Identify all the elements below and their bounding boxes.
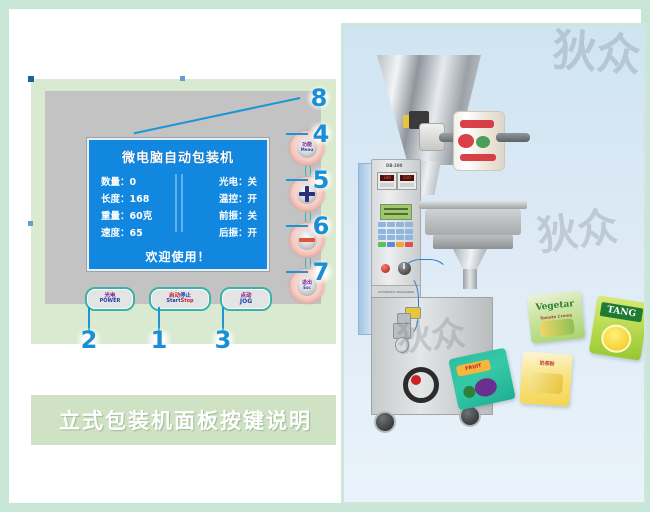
leader-line-esc	[286, 271, 308, 273]
lcd-line-photoeye: 光电：关	[219, 174, 257, 188]
lcd-right-column: 光电：关 温控：开 前振：关 后振：开	[219, 174, 257, 239]
leader-line-minus	[286, 225, 308, 227]
lcd-line-front-vib: 前振：关	[219, 208, 257, 222]
power-button-label-en: POWER	[100, 299, 121, 305]
lcd-title: 微电脑自动包装机	[89, 147, 267, 166]
callout-2: 2	[76, 327, 102, 353]
lcd-line-weight: 重量：60克	[101, 208, 152, 222]
callout-3: 3	[210, 327, 236, 353]
lcd-line-speed: 速度：65	[101, 225, 152, 239]
lcd-divider	[176, 174, 183, 232]
page-frame: 微电脑自动包装机 数量：0 长度：168 重量：60克 速度：65 光电：关 温…	[0, 0, 650, 512]
caption-text: 立式包装机面板按键说明	[59, 405, 312, 435]
callout-7: 7	[308, 259, 334, 285]
lcd-line-temp: 温控：开	[219, 191, 257, 205]
photo-border	[341, 23, 647, 505]
callout-6: 6	[308, 213, 334, 239]
leader-line-menu	[286, 133, 308, 135]
callout-8: 8	[306, 85, 332, 111]
selection-handle-top-left[interactable]	[28, 76, 34, 82]
selection-handle-bottom-left[interactable]	[28, 221, 33, 226]
lcd-welcome-message: 欢迎使用！	[89, 248, 267, 265]
callout-4: 4	[308, 121, 334, 147]
machine-photo: 狄众 DB-280 188 210	[341, 23, 647, 505]
lcd-line-rear-vib: 后振：开	[219, 225, 257, 239]
jog-button-label-en: JOG	[240, 299, 252, 306]
callout-1: 1	[146, 327, 172, 353]
selection-handle-top-middle[interactable]	[180, 76, 185, 81]
lcd-display: 微电脑自动包装机 数量：0 长度：168 重量：60克 速度：65 光电：关 温…	[87, 138, 269, 271]
jog-button[interactable]: 点动 JOG	[220, 287, 272, 311]
start-stop-button-label-en: StartStop	[166, 299, 193, 305]
caption-bar: 立式包装机面板按键说明	[31, 395, 336, 445]
menu-button-label-en: Menu	[301, 148, 313, 153]
power-button[interactable]: 光电 POWER	[85, 287, 135, 311]
lcd-line-count: 数量：0	[101, 174, 152, 188]
escape-button-label-en: Esc	[303, 286, 310, 291]
lcd-readout: 数量：0 长度：168 重量：60克 速度：65 光电：关 温控：开 前振：关 …	[101, 174, 257, 239]
lcd-line-length: 长度：168	[101, 191, 152, 205]
leader-line-plus	[286, 179, 308, 181]
callout-5: 5	[308, 167, 334, 193]
panel-diagram: 微电脑自动包装机 数量：0 长度：168 重量：60克 速度：65 光电：关 温…	[31, 79, 336, 344]
lcd-left-column: 数量：0 长度：168 重量：60克 速度：65	[101, 174, 152, 239]
